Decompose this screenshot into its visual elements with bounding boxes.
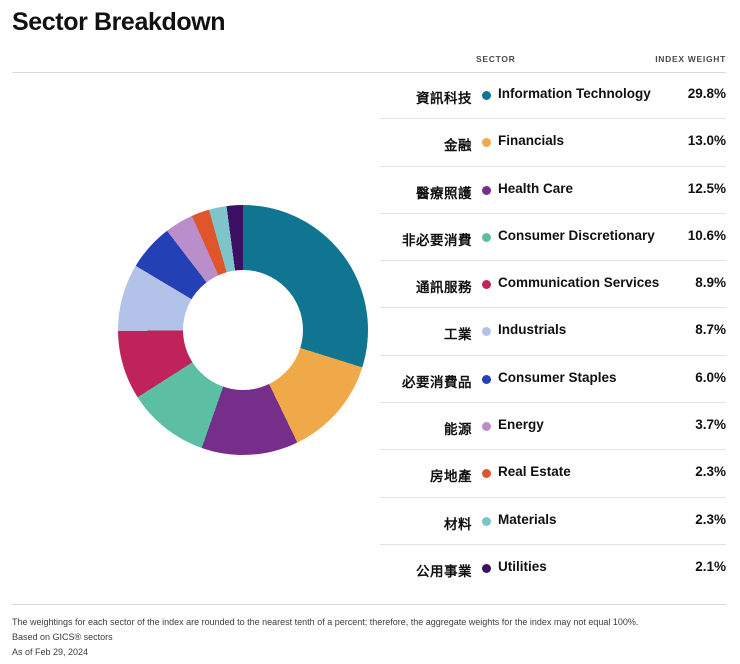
- column-header-sector: SECTOR: [476, 54, 515, 64]
- sector-label-zh: 工業: [380, 323, 472, 343]
- legend-color-swatch-icon: [482, 564, 491, 573]
- legend-row: 非必要消費Consumer Discretionary10.6%: [380, 214, 726, 261]
- legend-row: 工業Industrials8.7%: [380, 308, 726, 355]
- sector-weight: 6.0%: [695, 370, 726, 385]
- sector-label: Materials: [498, 512, 557, 527]
- legend-row: 醫療照護Health Care12.5%: [380, 167, 726, 214]
- sector-label-zh: 房地產: [380, 465, 472, 485]
- sector-label-zh: 金融: [380, 134, 472, 154]
- sector-label: Information Technology: [498, 86, 651, 101]
- footnote-line: The weightings for each sector of the in…: [12, 615, 726, 630]
- column-header-index-weight: INDEX WEIGHT: [655, 54, 726, 64]
- legend-color-swatch-icon: [482, 280, 491, 289]
- legend-row: 必要消費品Consumer Staples6.0%: [380, 356, 726, 403]
- footnote-line: As of Feb 29, 2024: [12, 645, 726, 660]
- sector-label-zh: 必要消費品: [380, 371, 472, 391]
- sector-weight: 12.5%: [688, 181, 726, 196]
- sector-label: Health Care: [498, 181, 573, 196]
- sector-label-zh: 通訊服務: [380, 276, 472, 296]
- legend-row: 通訊服務Communication Services8.9%: [380, 261, 726, 308]
- sector-breakdown-page: Sector Breakdown SECTOR INDEX WEIGHT 資訊科…: [0, 0, 740, 664]
- legend-row: 材料Materials2.3%: [380, 498, 726, 545]
- legend-color-swatch-icon: [482, 327, 491, 336]
- sector-label-zh: 公用事業: [380, 560, 472, 580]
- legend-color-swatch-icon: [482, 422, 491, 431]
- sector-label: Utilities: [498, 559, 547, 574]
- sector-label-zh: 材料: [380, 513, 472, 533]
- legend-color-swatch-icon: [482, 469, 491, 478]
- footnotes: The weightings for each sector of the in…: [12, 615, 726, 660]
- sector-label: Real Estate: [498, 464, 571, 479]
- legend-color-swatch-icon: [482, 91, 491, 100]
- legend-color-swatch-icon: [482, 138, 491, 147]
- sector-label-zh: 醫療照護: [380, 182, 472, 202]
- sector-label-zh: 資訊科技: [380, 87, 472, 107]
- footer-divider: [12, 604, 726, 605]
- donut-chart: [118, 205, 368, 455]
- sector-weight: 10.6%: [688, 228, 726, 243]
- page-title: Sector Breakdown: [12, 8, 225, 37]
- sector-label-zh: 能源: [380, 418, 472, 438]
- sector-weight: 2.3%: [695, 464, 726, 479]
- sector-legend: 資訊科技Information Technology29.8%金融Financi…: [380, 72, 726, 591]
- sector-label: Financials: [498, 133, 564, 148]
- legend-color-swatch-icon: [482, 517, 491, 526]
- sector-label-zh: 非必要消費: [380, 229, 472, 249]
- legend-row: 房地產Real Estate2.3%: [380, 450, 726, 497]
- sector-weight: 2.1%: [695, 559, 726, 574]
- legend-row: 能源Energy3.7%: [380, 403, 726, 450]
- legend-color-swatch-icon: [482, 233, 491, 242]
- legend-color-swatch-icon: [482, 186, 491, 195]
- sector-weight: 3.7%: [695, 417, 726, 432]
- sector-weight: 8.9%: [695, 275, 726, 290]
- sector-label: Communication Services: [498, 275, 659, 290]
- legend-row: 資訊科技Information Technology29.8%: [380, 72, 726, 119]
- legend-color-swatch-icon: [482, 375, 491, 384]
- footnote-line: Based on GICS® sectors: [12, 630, 726, 645]
- legend-row: 金融Financials13.0%: [380, 119, 726, 166]
- donut-hole: [183, 270, 303, 390]
- sector-weight: 8.7%: [695, 322, 726, 337]
- legend-row: 公用事業Utilities2.1%: [380, 545, 726, 591]
- sector-label: Energy: [498, 417, 544, 432]
- sector-weight: 29.8%: [688, 86, 726, 101]
- sector-label: Industrials: [498, 322, 566, 337]
- sector-weight: 13.0%: [688, 133, 726, 148]
- sector-weight: 2.3%: [695, 512, 726, 527]
- sector-label: Consumer Staples: [498, 370, 617, 385]
- sector-label: Consumer Discretionary: [498, 228, 655, 243]
